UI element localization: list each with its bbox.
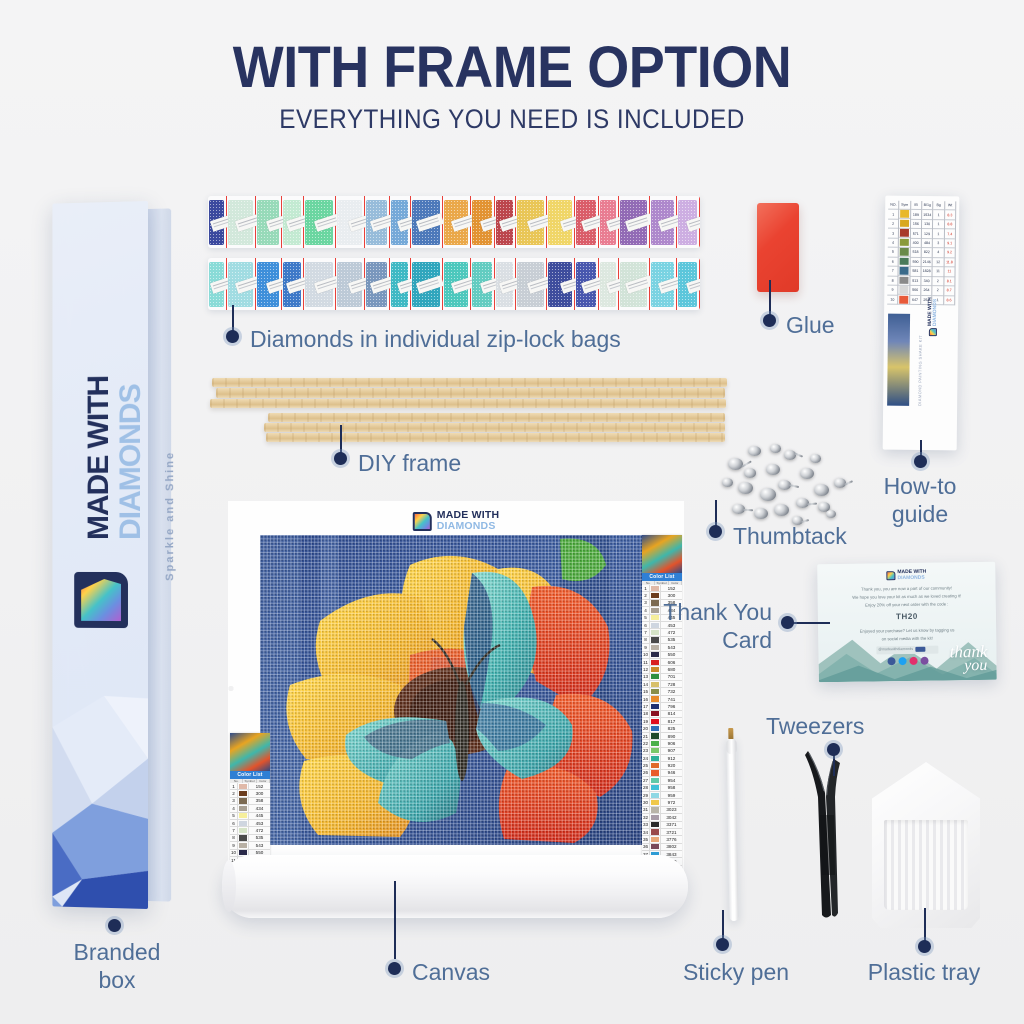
legend-row: 24912 xyxy=(642,755,682,762)
card-line-3: Enjoy 20% off your next order with the c… xyxy=(828,599,986,609)
label-plastic-tray: Plastic tray xyxy=(856,958,992,986)
canvas-color-list-left: Color ListNo.SymbolColor1152230033584434… xyxy=(230,733,270,864)
diamond-bag xyxy=(227,258,256,310)
canvas-product: MADE WITH DIAMONDS xyxy=(228,501,684,876)
how-to-guide-product: NO.12345678910SymIB189156571400518590581… xyxy=(883,196,960,451)
thank-you-card-product: MADE WITH DIAMONDS Thank you, you are no… xyxy=(817,562,997,682)
guide-table-cell: 590 xyxy=(910,258,920,268)
thumbtack-dot xyxy=(709,525,722,538)
card-logo: MADE WITH DIAMONDS xyxy=(886,570,926,582)
plastic-tray-product xyxy=(872,762,980,928)
guide-table-cell: 1 xyxy=(888,210,898,220)
legend-row: 26946 xyxy=(642,770,682,777)
diamond-bag xyxy=(411,258,442,310)
tweezers-dot xyxy=(827,743,840,756)
card-promo-code: TH20 xyxy=(828,609,986,626)
diamond-bag xyxy=(365,258,390,310)
thumbtack xyxy=(826,510,836,518)
pinterest-icon xyxy=(920,656,928,664)
thumbtack xyxy=(810,454,821,463)
facebook-icon xyxy=(887,657,895,665)
diamond-bag xyxy=(619,258,649,310)
legend-row: 5445 xyxy=(230,813,270,820)
guide-table-cell xyxy=(899,257,909,267)
guide-dot xyxy=(914,455,927,468)
diamond-bag xyxy=(599,196,620,248)
label-tweezers: Tweezers xyxy=(766,712,864,740)
thumbtack xyxy=(722,478,733,487)
guide-table-cell xyxy=(899,286,909,296)
thumbtack xyxy=(766,464,780,475)
guide-table-cell: 566 xyxy=(910,286,920,296)
guide-table-cell: 1 xyxy=(933,211,943,221)
instagram-icon xyxy=(909,656,917,664)
thumbtack-pin xyxy=(741,461,752,468)
glue-dot xyxy=(763,314,776,327)
page-title: WITH FRAME OPTION xyxy=(36,34,988,101)
guide-table-cell: 156 xyxy=(911,220,921,230)
thumbtack xyxy=(800,468,814,479)
guide-table-cell: 822 xyxy=(922,248,932,258)
legend-row: 8535 xyxy=(230,835,270,842)
guide-table-cell: 484 xyxy=(922,239,932,249)
page-subtitle: EVERYTHING YOU NEED IS INCLUDED xyxy=(51,104,973,135)
diamond-bag xyxy=(208,258,227,310)
legend-row: 29959 xyxy=(642,792,682,799)
guide-table-column: Wt8.38.87.49.19.211.8118.18.78.6 xyxy=(944,201,956,305)
glue-leader-line xyxy=(769,280,771,317)
legend-row: 20825 xyxy=(642,725,682,732)
thumbtack xyxy=(774,504,789,516)
diamond-bags-row-1 xyxy=(208,196,700,248)
box-brand-line2: DIAMONDS xyxy=(114,384,148,540)
guide-table-cell xyxy=(899,276,909,286)
legend-row: 1152 xyxy=(642,585,682,592)
label-how-to-guide: How-to guide xyxy=(862,472,978,528)
guide-table-cell: 130 xyxy=(922,220,932,230)
diamond-bag xyxy=(411,196,442,248)
diamond-bag xyxy=(365,196,390,248)
guide-table-cell: Bg xyxy=(933,201,943,211)
legend-row: 1152 xyxy=(230,783,270,790)
twitter-icon xyxy=(898,657,906,665)
diamond-bag xyxy=(516,196,547,248)
guide-table-cell: 518 xyxy=(910,248,920,258)
artwork-dot-overlay xyxy=(260,535,652,845)
guide-table-cell: 8 xyxy=(887,276,897,286)
legend-thumbnail xyxy=(230,733,270,771)
infographic-canvas: WITH FRAME OPTION EVERYTHING YOU NEED IS… xyxy=(0,0,1024,1024)
legend-row: 22906 xyxy=(642,740,682,747)
thumbtack xyxy=(748,446,761,456)
diamond-bag xyxy=(443,196,471,248)
thumbtack-pin xyxy=(807,502,817,505)
guide-table-cell: 647 xyxy=(910,295,920,305)
diamond-bag xyxy=(547,258,574,310)
tweezers-product xyxy=(800,745,846,920)
bags-leader-line xyxy=(232,305,234,333)
guide-table-cell: Wt xyxy=(945,201,955,211)
tray-leader-line xyxy=(924,908,926,944)
frame-slat xyxy=(268,413,725,422)
guide-table-cell xyxy=(899,295,909,305)
guide-table-cell: 581 xyxy=(910,267,920,277)
guide-table-cell: 2 xyxy=(933,277,943,287)
guide-table-cell: 9 xyxy=(887,286,897,296)
guide-table-cell: 10 xyxy=(887,295,897,305)
guide-table-cell: 9.2 xyxy=(944,249,954,259)
card-logo-line2: DIAMONDS xyxy=(897,575,926,581)
tray-ribbed-well xyxy=(884,820,968,910)
diamond-bag xyxy=(650,258,677,310)
legend-row: 313023 xyxy=(642,807,682,814)
sticky-pen-product xyxy=(726,737,738,921)
thumbtack-pin xyxy=(743,508,753,511)
thumbtack xyxy=(728,458,743,470)
label-sticky-pen: Sticky pen xyxy=(676,958,796,986)
thumbtack xyxy=(738,482,753,494)
label-diamond-bags: Diamonds in individual zip-lock bags xyxy=(250,325,621,353)
legend-row: 363802 xyxy=(642,844,682,851)
diamond-bag xyxy=(471,196,496,248)
guide-table-cell: 9.1 xyxy=(944,239,954,249)
guide-table-cell: 8.6 xyxy=(944,296,954,306)
guide-table-cell: 3 xyxy=(933,239,943,249)
guide-logo-line2: DIAMONDS xyxy=(933,297,939,326)
canvas-leader-line xyxy=(394,881,396,959)
guide-table-cell: 12 xyxy=(933,258,943,268)
canvas-dot xyxy=(388,962,401,975)
guide-table-cell: 1 xyxy=(933,220,943,230)
legend-row: 2300 xyxy=(230,790,270,797)
frame-slat xyxy=(266,433,725,442)
guide-table-cell: 1 xyxy=(933,229,943,239)
guide-table-cell xyxy=(899,209,909,219)
diamond-bag xyxy=(390,196,412,248)
label-branded-box: Branded box xyxy=(52,938,182,994)
diamond-bag xyxy=(336,196,365,248)
guide-table-cell: IB xyxy=(911,201,921,211)
guide-side-text: DIAMOND PAINTING SHAKE KIT xyxy=(917,320,923,406)
frame-leader-line xyxy=(340,425,342,455)
box-polygon-pattern xyxy=(52,608,148,909)
guide-table-cell: 11 xyxy=(944,267,954,277)
diamond-bag xyxy=(304,196,336,248)
pen-dot xyxy=(716,938,729,951)
guide-logo: MADE WITH DIAMONDS xyxy=(928,292,939,336)
canvas-logo: MADE WITH DIAMONDS xyxy=(413,510,499,533)
diamond-bag xyxy=(619,196,649,248)
legend-row: 3358 xyxy=(230,798,270,805)
diamond-bag xyxy=(443,258,471,310)
legend-row: 21890 xyxy=(642,733,682,740)
guide-table-cell: 129 xyxy=(922,229,932,239)
guide-table-cell xyxy=(899,219,909,229)
label-canvas: Canvas xyxy=(412,958,490,986)
diamond-bag xyxy=(547,196,574,248)
legend-row: 25920 xyxy=(642,762,682,769)
diamond-bag xyxy=(282,258,304,310)
diamond-logo-icon xyxy=(929,328,937,336)
diamond-bag xyxy=(575,258,599,310)
card-social-handle: @madewithdiamonds xyxy=(876,645,938,654)
guide-table-cell: Sym xyxy=(900,201,910,210)
legend-row: 18814 xyxy=(642,711,682,718)
guide-table-cell: 8.3 xyxy=(945,211,955,221)
canvas-logo-line2: DIAMONDS xyxy=(437,521,499,532)
legend-row: 333371 xyxy=(642,822,682,829)
tray-dot xyxy=(918,940,931,953)
diamond-logo-icon xyxy=(886,571,895,580)
legend-row: 27954 xyxy=(642,777,682,784)
guide-table-cell: 400 xyxy=(910,239,920,249)
guide-table-cell: NO. xyxy=(888,201,898,211)
guide-table-cell: 11 xyxy=(933,267,943,277)
legend-row: 343721 xyxy=(642,829,682,836)
guide-table-cell: 1534 xyxy=(922,210,932,220)
branded-box-product: Sparkle and Shine MADE WITH DIAMONDS xyxy=(52,194,170,913)
canvas-artwork xyxy=(260,535,652,845)
card-dot xyxy=(781,616,794,629)
diamond-bag xyxy=(282,196,304,248)
diamond-bag xyxy=(304,258,336,310)
glue-product xyxy=(757,203,799,292)
box-side-panel: Sparkle and Shine xyxy=(147,208,171,901)
canvas-roll xyxy=(222,855,688,918)
diamond-bags-row-2 xyxy=(208,258,700,310)
diamond-bag xyxy=(677,196,700,248)
guide-table-cell: 1828 xyxy=(921,267,931,277)
legend-row: 9543 xyxy=(230,842,270,849)
card-script-line2: you xyxy=(964,659,988,672)
thumbtack xyxy=(814,484,829,496)
diamond-bag xyxy=(208,196,227,248)
frame-slat xyxy=(210,399,726,408)
guide-table-cell: 3 xyxy=(888,229,898,239)
guide-table-cell: 571 xyxy=(911,229,921,239)
diamond-bag xyxy=(516,258,547,310)
guide-table-cell: 5 xyxy=(888,248,898,258)
pen-tip xyxy=(728,728,733,739)
box-brand-line1: MADE WITH xyxy=(82,376,116,540)
guide-table-cell: 7 xyxy=(887,267,897,277)
diamond-bag xyxy=(495,196,516,248)
diamond-bag xyxy=(336,258,365,310)
guide-table-cell: 4 xyxy=(933,248,943,258)
guide-table-cell: 340 xyxy=(921,277,931,287)
thumbtack-pile xyxy=(714,438,854,530)
legend-row: 28958 xyxy=(642,785,682,792)
legend-row: 13701 xyxy=(642,674,682,681)
tweezers-illustration xyxy=(800,745,846,920)
diamond-bag xyxy=(256,196,282,248)
thumbtack xyxy=(770,444,781,453)
legend-row: 6453 xyxy=(230,820,270,827)
guide-table-cell xyxy=(899,228,909,238)
card-leader-line xyxy=(790,622,830,624)
facebook-badge-icon xyxy=(915,647,925,652)
diamond-bag xyxy=(677,258,700,310)
bags-dot xyxy=(226,330,239,343)
guide-table-cell: 6 xyxy=(888,257,898,267)
frame-slat xyxy=(216,388,725,398)
guide-table-cell: 7.4 xyxy=(945,230,955,240)
legend-row: 4434 xyxy=(230,805,270,812)
diamond-bag xyxy=(650,196,677,248)
guide-color-table: NO.12345678910SymIB189156571400518590581… xyxy=(887,201,956,306)
label-diy-frame: DIY frame xyxy=(358,449,461,477)
label-thank-you-card: Thank You Card xyxy=(648,598,772,654)
legend-row: 7472 xyxy=(230,827,270,834)
thumbtack-leader-line xyxy=(715,500,717,528)
legend-row: 323042 xyxy=(642,814,682,821)
legend-row: 11606 xyxy=(642,659,682,666)
guide-table-cell: B/1g xyxy=(922,201,932,211)
box-branding: MADE WITH DIAMONDS xyxy=(52,239,148,570)
guide-table-cell: 8.1 xyxy=(944,277,954,287)
card-script-text: thank you xyxy=(950,645,988,673)
branded-box-dot xyxy=(108,919,121,932)
label-glue: Glue xyxy=(786,311,835,339)
legend-thumbnail xyxy=(642,535,682,573)
thumbtack xyxy=(744,468,756,478)
guide-photo xyxy=(887,314,910,406)
legend-title: Color List xyxy=(230,771,270,779)
legend-row: 30972 xyxy=(642,799,682,806)
legend-row: 23907 xyxy=(642,748,682,755)
box-front-panel: MADE WITH DIAMONDS xyxy=(52,201,148,909)
card-handle-text: @madewithdiamonds xyxy=(878,646,913,653)
diamond-logo-icon xyxy=(413,512,432,531)
diamond-bag xyxy=(495,258,516,310)
diamond-bag xyxy=(390,258,412,310)
legend-row: 12680 xyxy=(642,666,682,673)
legend-row: 14728 xyxy=(642,681,682,688)
legend-row: 16741 xyxy=(642,696,682,703)
frame-slat xyxy=(264,423,725,432)
diamond-bag xyxy=(575,196,599,248)
box-spine-text: Sparkle and Shine xyxy=(164,395,176,636)
legend-row: 15732 xyxy=(642,688,682,695)
diamond-bag xyxy=(227,196,256,248)
pen-collar xyxy=(726,739,736,754)
diamond-bag xyxy=(471,258,496,310)
guide-table-cell: 4 xyxy=(888,238,898,248)
thumbtack xyxy=(760,488,776,501)
guide-table-cell: 8.7 xyxy=(944,286,954,296)
guide-table-cell xyxy=(899,248,909,258)
legend-row: 353776 xyxy=(642,836,682,843)
legend-row: 17796 xyxy=(642,703,682,710)
guide-table-cell xyxy=(899,238,909,248)
guide-table-cell xyxy=(899,267,909,277)
guide-table-cell: 11.8 xyxy=(944,258,954,268)
guide-table-cell: 2 xyxy=(888,220,898,230)
diamond-bag xyxy=(256,258,282,310)
guide-table-cell: 2146 xyxy=(922,258,932,268)
canvas-color-list-right: Color ListNo.SymbolColor1152230033584434… xyxy=(642,535,682,881)
legend-row: 19817 xyxy=(642,718,682,725)
thumbtack xyxy=(754,508,768,519)
diamond-bag xyxy=(599,258,620,310)
frame-slat xyxy=(212,378,727,387)
label-thumbtack: Thumbtack xyxy=(733,522,847,550)
guide-table-cell: 513 xyxy=(910,277,920,287)
frame-dot xyxy=(334,452,347,465)
guide-table-cell: 8.8 xyxy=(945,220,955,230)
guide-table-cell: 189 xyxy=(911,210,921,220)
legend-title: Color List xyxy=(642,573,682,581)
